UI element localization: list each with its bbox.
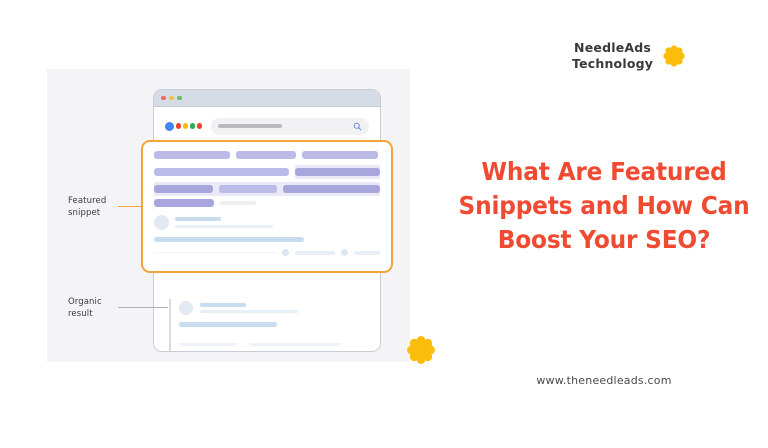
annotation-organic-line1: Organic xyxy=(68,297,102,309)
organic-result-block[interactable] xyxy=(154,293,381,352)
browser-titlebar xyxy=(154,90,380,107)
organic-result-header xyxy=(179,301,368,315)
snippet-source-avatar xyxy=(154,215,169,230)
related-dot-icon-1 xyxy=(282,249,289,256)
search-query-placeholder-bar xyxy=(218,124,282,128)
annotation-organic-result: Organic result xyxy=(68,297,102,320)
site-url[interactable]: www.theneedleads.com xyxy=(444,374,764,387)
search-input[interactable] xyxy=(211,118,369,135)
annotation-featured-snippet: Featured snippet xyxy=(68,196,106,219)
flower-icon-decoration xyxy=(404,333,438,367)
brand-name-line1: NeedleAds xyxy=(572,40,653,56)
traffic-light-close-icon[interactable] xyxy=(161,96,166,101)
organic-result-snippet-lines xyxy=(179,333,368,352)
organic-favicon-avatar xyxy=(179,301,193,315)
snippet-row-1 xyxy=(154,151,380,159)
google-dots-logo-icon xyxy=(165,122,202,131)
snippet-row-3 xyxy=(154,182,380,196)
snippet-link-bar xyxy=(154,237,380,242)
brand-name: NeedleAds Technology xyxy=(572,40,653,72)
brand-logo[interactable]: NeedleAds Technology xyxy=(572,40,687,72)
snippet-source-row xyxy=(154,215,380,230)
featured-snippet-card[interactable] xyxy=(141,140,393,273)
page-title: What Are Featured Snippets and How Can B… xyxy=(455,155,753,257)
traffic-light-minimize-icon[interactable] xyxy=(169,96,174,101)
annotation-featured-line1: Featured xyxy=(68,196,106,208)
snippet-row-4 xyxy=(154,199,380,207)
annotation-featured-leader-line xyxy=(118,206,142,207)
traffic-light-maximize-icon[interactable] xyxy=(177,96,182,101)
brand-name-line2: Technology xyxy=(572,56,653,72)
organic-result-title xyxy=(179,322,368,327)
flower-icon xyxy=(661,43,687,69)
related-dot-icon-2 xyxy=(341,249,348,256)
snippet-related-row xyxy=(154,249,380,256)
annotation-featured-line2: snippet xyxy=(68,208,106,220)
annotation-organic-leader-line xyxy=(118,307,168,308)
poster-canvas: Featured snippet Organic result NeedleAd… xyxy=(0,0,768,448)
search-icon[interactable] xyxy=(353,122,362,131)
annotation-organic-line2: result xyxy=(68,309,102,321)
snippet-row-2 xyxy=(154,165,380,179)
organic-result-rail xyxy=(169,299,171,352)
